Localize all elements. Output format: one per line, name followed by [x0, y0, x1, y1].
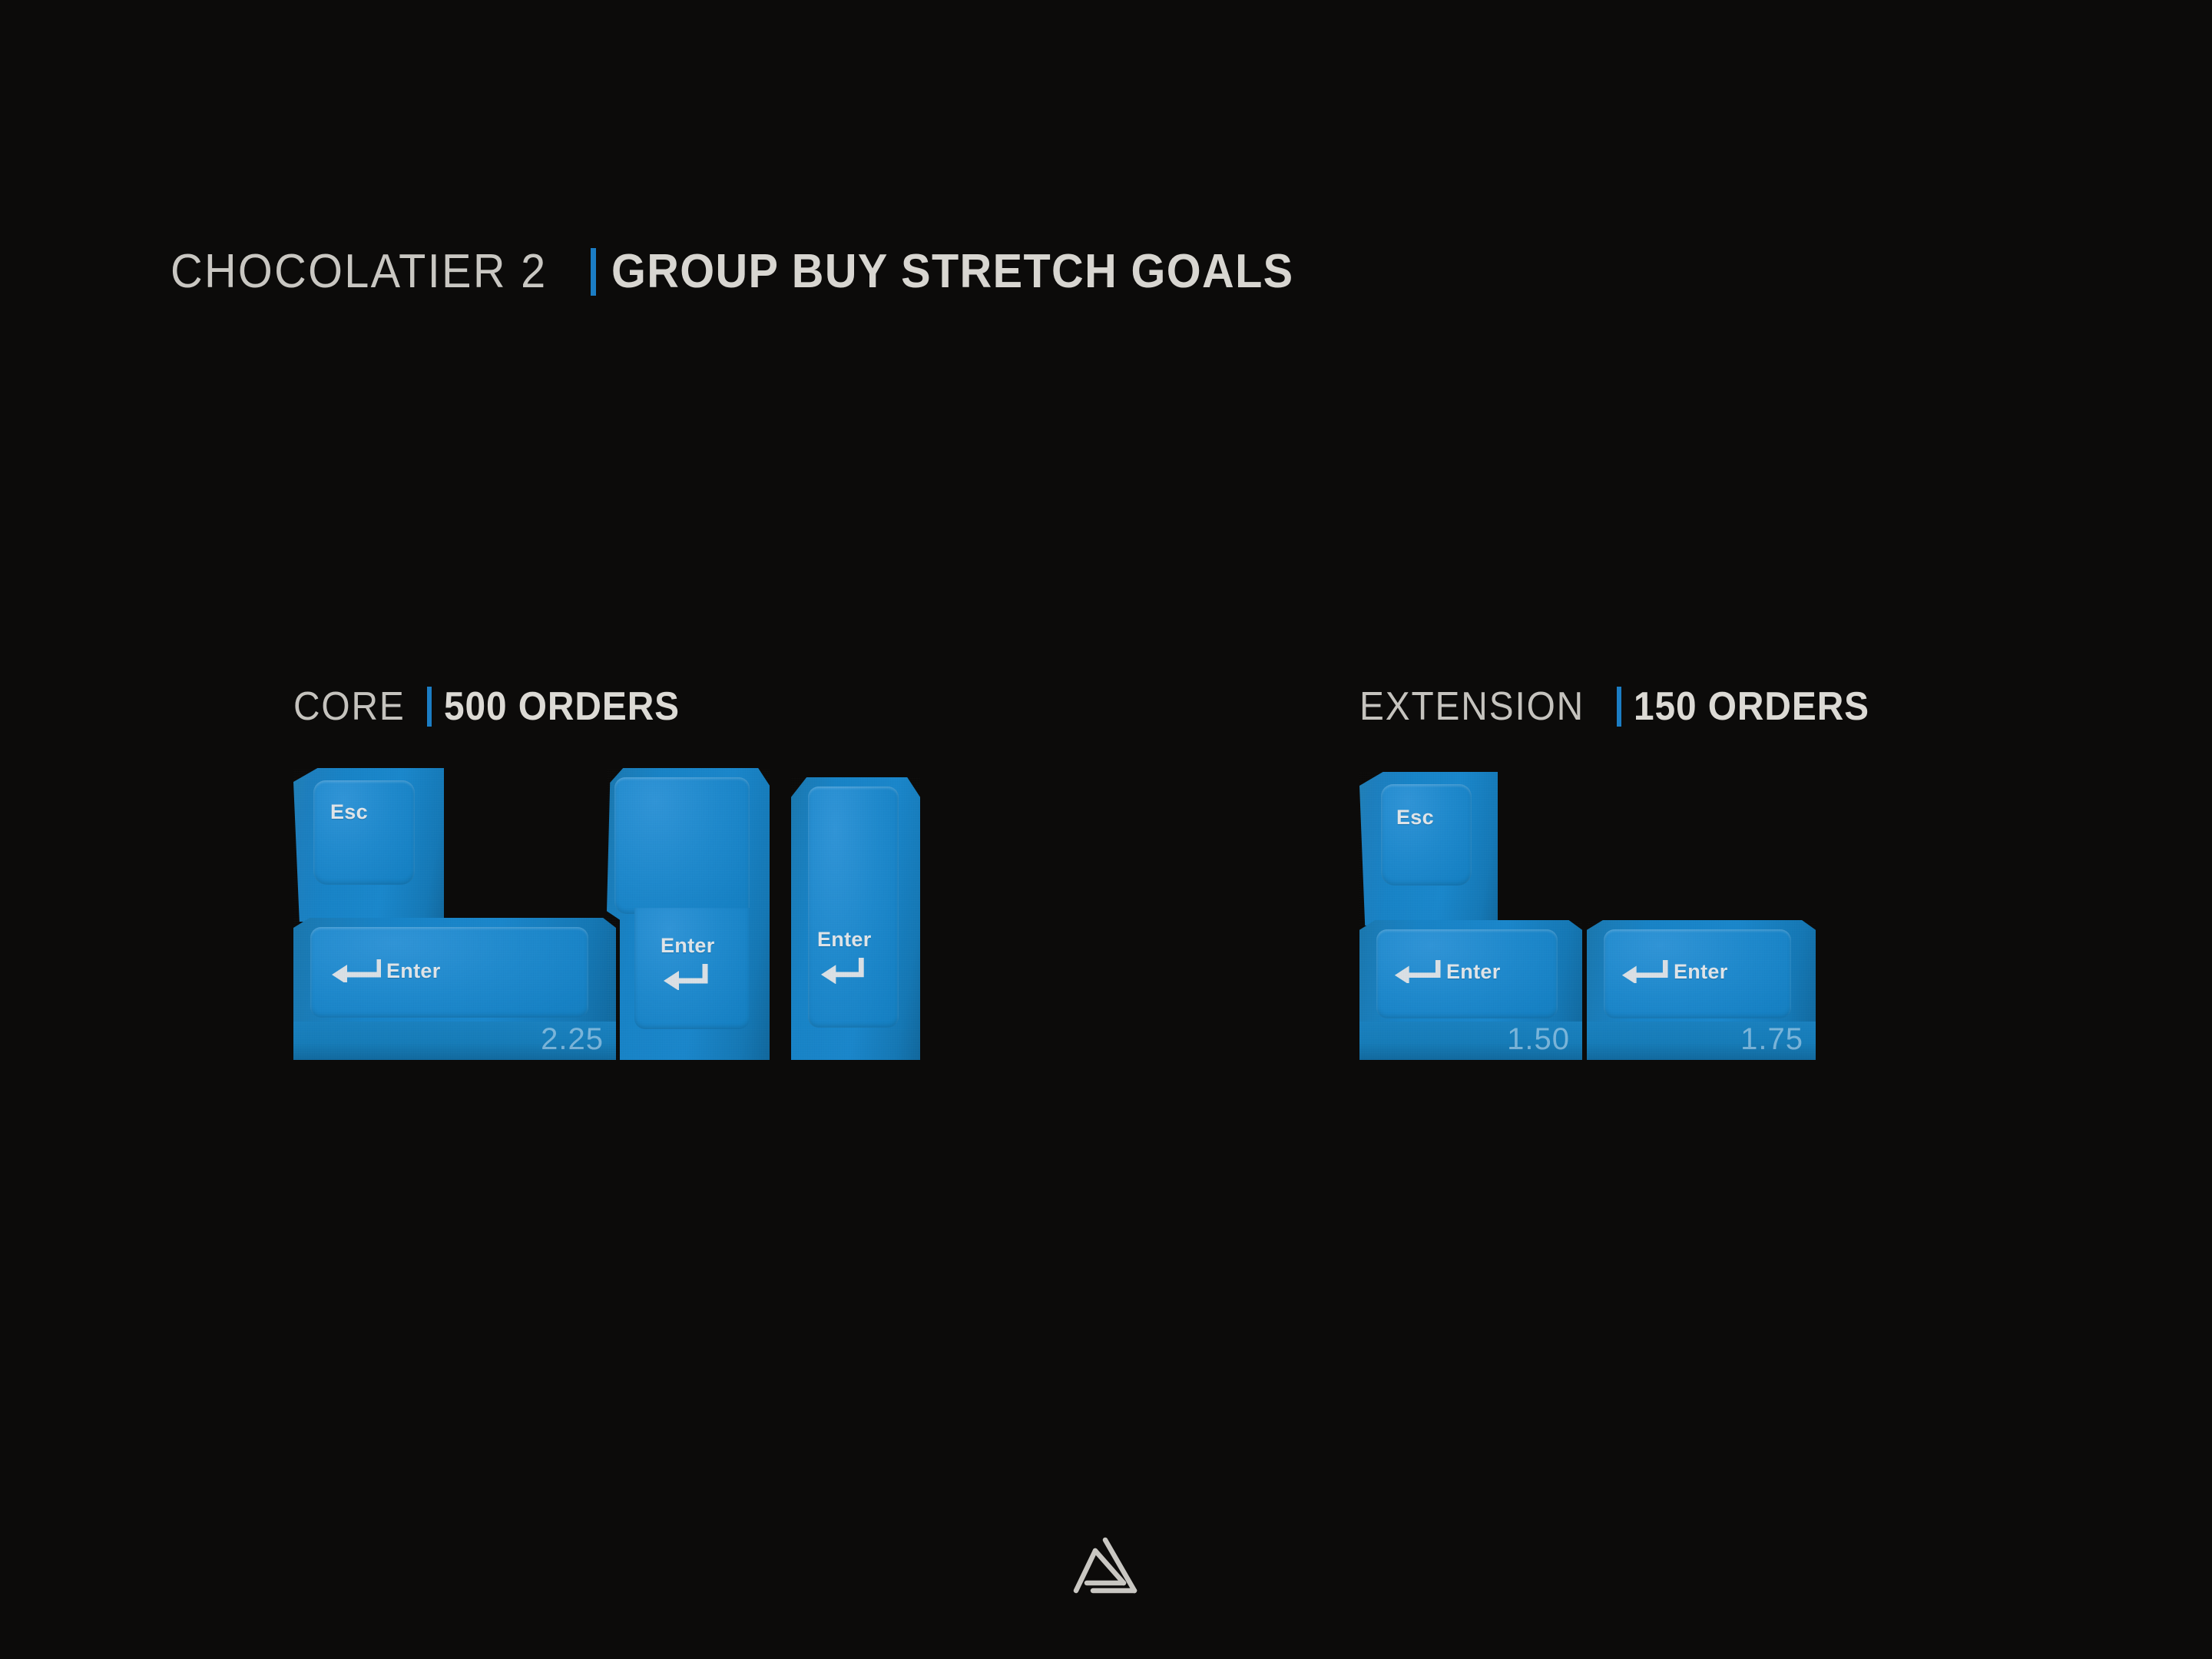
- keycap-legend: Enter: [817, 929, 872, 984]
- keycap-legend-text: Enter: [1674, 962, 1728, 982]
- keycap-front-skirt: 1.75: [1587, 1022, 1816, 1060]
- keycap-top-face: [1381, 784, 1472, 886]
- keycap-legend-text: Enter: [1446, 962, 1501, 982]
- keycap-top-face: [614, 777, 750, 914]
- section-goal-extension: 150 ORDERS: [1634, 684, 1869, 730]
- section-separator-core: [427, 687, 432, 727]
- keycap-legend: Enter: [1621, 960, 1728, 983]
- keycap-legend-text: Esc: [330, 802, 368, 823]
- title-separator: [591, 248, 596, 296]
- keycap-legend: Enter: [330, 959, 441, 982]
- return-arrow-icon: [820, 958, 869, 984]
- keycap-ext-enter-150: Enter 1.50: [1359, 920, 1582, 1060]
- keycap-ext-esc: Esc: [1359, 772, 1498, 926]
- title-subject: GROUP BUY STRETCH GOALS: [611, 244, 1294, 299]
- keycap-legend-text: Enter: [386, 961, 441, 982]
- keycap-legend-text: Enter: [661, 935, 715, 956]
- page-title: CHOCOLATIER 2 GROUP BUY STRETCH GOALS: [171, 244, 1346, 299]
- keycap-top-face: [808, 786, 899, 1028]
- keycap-legend: Esc: [330, 802, 368, 823]
- return-arrow-icon: [662, 964, 713, 990]
- return-arrow-icon: [330, 959, 381, 982]
- keycap-core-enter-big: Enter: [791, 777, 920, 1060]
- section-heading-core: CORE 500 ORDERS: [293, 684, 700, 730]
- section-name-extension: EXTENSION: [1359, 684, 1584, 730]
- keycap-front-skirt: 2.25: [293, 1022, 616, 1060]
- keycap-legend-text: Esc: [1396, 807, 1434, 828]
- keycap-ext-enter-175: Enter 1.75: [1587, 920, 1816, 1060]
- keycap-legend: Enter: [661, 935, 715, 990]
- keycap-size-label: 1.75: [1740, 1022, 1803, 1057]
- keycap-core-esc: Esc: [293, 768, 444, 922]
- keycap-size-label: 2.25: [541, 1022, 604, 1057]
- keycap-legend: Esc: [1396, 807, 1434, 828]
- section-separator-extension: [1617, 687, 1621, 727]
- section-goal-core: 500 ORDERS: [444, 684, 680, 730]
- keycap-legend-text: Enter: [817, 929, 872, 950]
- delta-triangle-logo-icon: [1070, 1531, 1142, 1598]
- keycap-top-face: [313, 780, 415, 885]
- return-arrow-icon: [1393, 960, 1441, 983]
- title-product: CHOCOLATIER 2: [171, 244, 548, 299]
- return-arrow-icon: [1621, 960, 1668, 983]
- section-heading-extension: EXTENSION 150 ORDERS: [1359, 684, 1889, 730]
- keycap-size-label: 1.50: [1507, 1022, 1570, 1057]
- keycap-front-skirt: 1.50: [1359, 1022, 1582, 1060]
- section-name-core: CORE: [293, 684, 406, 730]
- keycap-core-enter-225: Enter 2.25: [293, 918, 616, 1060]
- keycap-core-enter-iso: Enter: [607, 768, 770, 1060]
- keycap-legend: Enter: [1393, 960, 1501, 983]
